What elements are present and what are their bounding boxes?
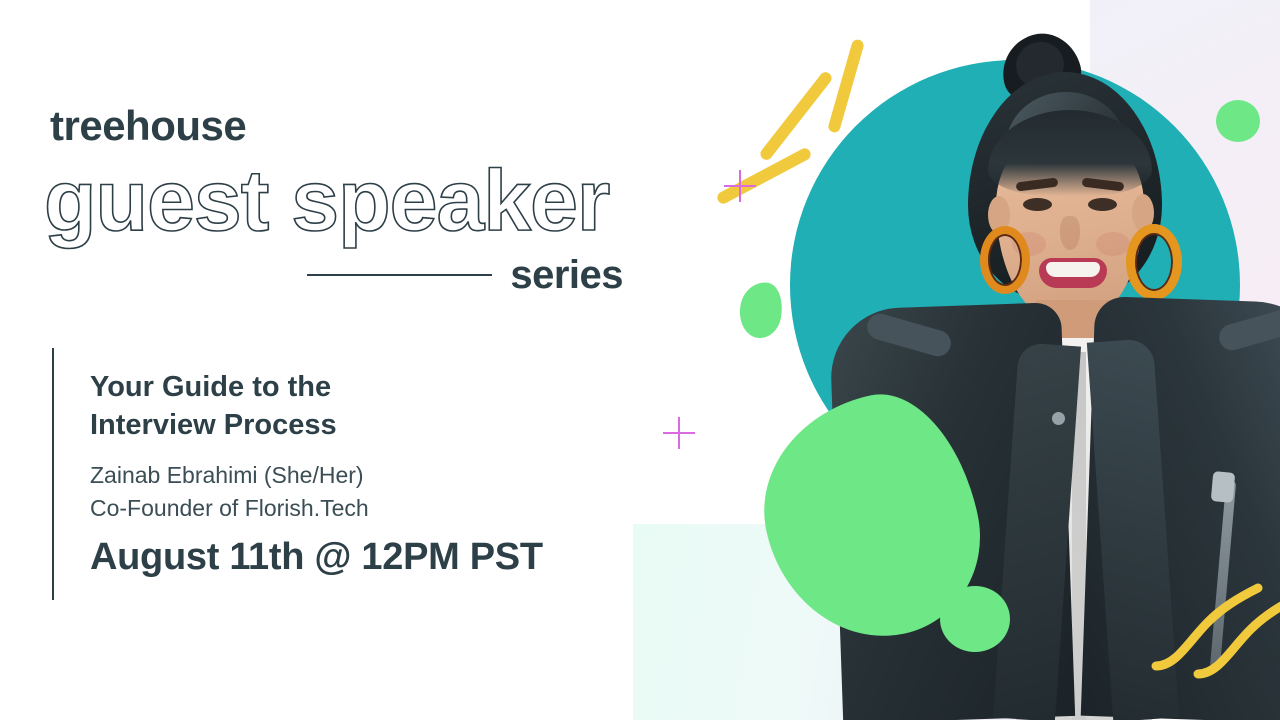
series-divider-rule (307, 274, 492, 276)
jacket-snap (1052, 412, 1065, 425)
plus-mark-icon (724, 170, 756, 202)
series-row: series (307, 255, 623, 295)
eye-left (1023, 198, 1052, 211)
earring-right (1126, 224, 1182, 300)
hero-outline-title: guest speaker (44, 158, 609, 244)
jacket-zipper-pull (1211, 471, 1236, 503)
promo-slide: treehouse guest speaker series Your Guid… (0, 0, 1280, 720)
eye-right (1088, 198, 1117, 211)
speaker-role: Co-Founder of Florish.Tech (90, 494, 369, 524)
brand-wordmark: treehouse (50, 105, 246, 147)
talk-title: Your Guide to the Interview Process (90, 368, 337, 445)
cheek-right (1096, 232, 1130, 256)
nose (1060, 216, 1080, 250)
speaker-portrait (820, 0, 1280, 720)
plus-mark-icon (663, 417, 695, 449)
green-blob-small-shape (735, 279, 786, 341)
series-label: series (510, 255, 623, 295)
event-datetime: August 11th @ 12PM PST (90, 537, 543, 579)
teeth (1046, 262, 1100, 277)
earring-left (980, 226, 1030, 294)
yellow-dash-icon (715, 146, 812, 205)
speaker-name: Zainab Ebrahimi (She/Her) (90, 461, 364, 491)
detail-accent-rule (52, 348, 54, 600)
